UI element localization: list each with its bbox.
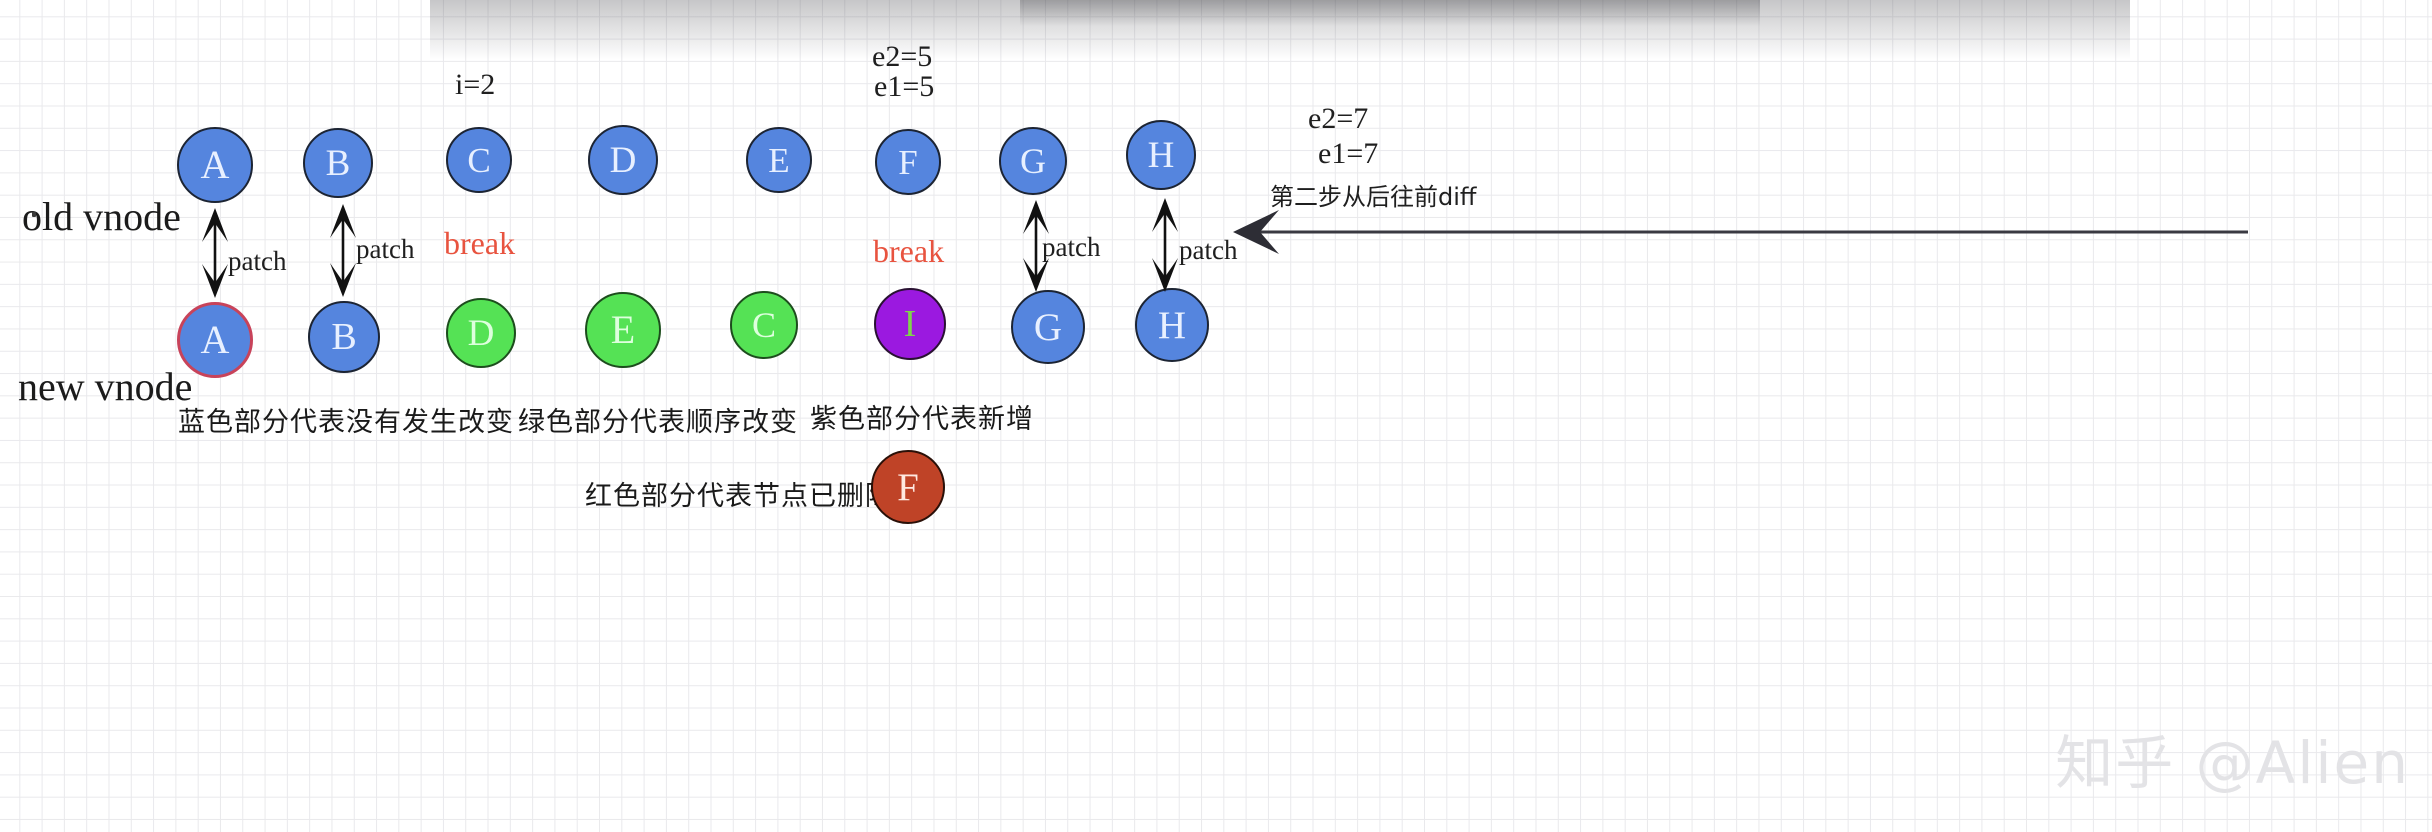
node-letter: G	[1034, 308, 1062, 347]
old-vnode-row-label: old vnode	[22, 193, 181, 240]
patch-label-2: patch	[1042, 232, 1100, 263]
node-letter: C	[467, 143, 490, 178]
node-new-a-0: A	[177, 302, 253, 378]
node-letter: B	[331, 318, 356, 356]
legend-blue: 蓝色部分代表没有发生改变	[178, 400, 514, 439]
patch-arrow-0	[202, 208, 228, 298]
backward-diff-note: 第二步从后往前diff	[1270, 177, 1476, 212]
break-label-2: break	[873, 233, 944, 270]
node-letter: E	[611, 310, 635, 350]
scan-shadow-top-inner	[1020, 0, 1760, 26]
node-old-e-4: E	[746, 127, 812, 193]
node-new-e-3: E	[585, 292, 661, 368]
node-letter: H	[1158, 306, 1186, 345]
node-letter: C	[752, 307, 776, 343]
break-label-1: break	[444, 225, 515, 262]
e2-second-label: e2=7	[1308, 102, 1368, 136]
node-old-f-5: F	[875, 129, 941, 195]
node-old-c-2: C	[446, 127, 512, 193]
legend-purple: 紫色部分代表新增	[810, 397, 1034, 436]
node-new-g-6: G	[1011, 290, 1085, 364]
node-new-d-2: D	[446, 298, 516, 368]
e2-first-label: e2=5	[872, 40, 932, 74]
node-old-d-3: D	[588, 125, 658, 195]
node-old-h-7: H	[1126, 120, 1196, 190]
e1-first-label: e1=5	[874, 70, 934, 104]
legend-red: 红色部分代表节点已删除	[585, 474, 893, 513]
node-letter: G	[1020, 143, 1046, 179]
patch-arrow-3	[1152, 198, 1178, 292]
node-letter: D	[610, 142, 637, 179]
watermark: 知乎 @Alien	[2055, 716, 2410, 800]
backward-diff-arrow	[1233, 210, 2248, 254]
node-letter: F	[897, 468, 919, 507]
node-old-g-6: G	[999, 127, 1067, 195]
legend-green: 绿色部分代表顺序改变	[518, 400, 798, 439]
new-vnode-row-label: new vnode	[18, 363, 192, 410]
diagram-canvas: old vnode new vnode ABCDEFGHABDECIGH i=2…	[0, 0, 2432, 832]
node-letter: D	[468, 315, 495, 352]
node-letter: I	[904, 305, 917, 343]
patch-label-3: patch	[1179, 235, 1237, 266]
patch-label-0: patch	[228, 246, 286, 277]
i-index-label: i=2	[455, 68, 495, 102]
e1-second-label: e1=7	[1318, 137, 1378, 171]
stray-ink-dot	[32, 212, 36, 217]
patch-label-1: patch	[356, 234, 414, 265]
node-letter: B	[326, 145, 351, 182]
legend-deleted-node-f: F	[871, 450, 945, 524]
node-old-a-0: A	[177, 127, 253, 203]
patch-arrow-1	[330, 204, 356, 297]
node-letter: A	[201, 145, 230, 185]
node-new-b-1: B	[308, 301, 380, 373]
node-new-c-4: C	[730, 291, 798, 359]
scan-shadow-top	[430, 0, 2130, 60]
node-new-i-5: I	[874, 288, 946, 360]
node-new-h-7: H	[1135, 288, 1209, 362]
node-letter: A	[201, 320, 230, 360]
node-letter: E	[768, 143, 789, 178]
node-letter: H	[1148, 137, 1175, 174]
node-letter: F	[898, 145, 917, 180]
node-old-b-1: B	[303, 128, 373, 198]
